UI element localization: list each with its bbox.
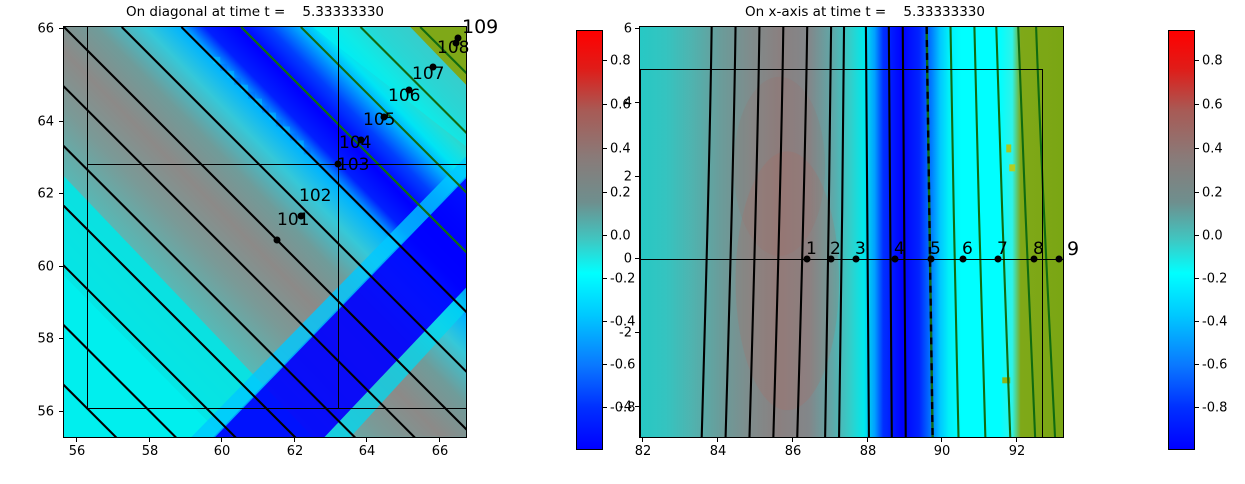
right-colorbar-tick-mark bbox=[1195, 192, 1199, 193]
right-colorbar-tick-label: 0.8 bbox=[1202, 54, 1223, 69]
left-colorbar-tick-mark bbox=[603, 148, 607, 149]
right-xtick-mark bbox=[1016, 438, 1017, 442]
left-ytick-label: 64 bbox=[30, 115, 54, 130]
right-reference-rectangle bbox=[640, 69, 1043, 438]
left-xtick-label: 62 bbox=[287, 444, 304, 459]
left-ytick-label: 58 bbox=[30, 332, 54, 347]
right-colorbar-tick-label: -0.8 bbox=[1202, 401, 1227, 416]
left-colorbar[interactable] bbox=[576, 30, 603, 450]
left-xtick-label: 60 bbox=[214, 444, 231, 459]
left-point-label: 101 bbox=[277, 212, 309, 229]
left-colorbar-tick-mark bbox=[603, 192, 607, 193]
left-colorbar-tick-mark bbox=[603, 235, 607, 236]
right-xtick-mark bbox=[867, 438, 868, 442]
right-xtick-label: 84 bbox=[710, 444, 727, 459]
left-vertical-reference-line bbox=[338, 26, 339, 409]
left-point-label: 108 bbox=[437, 40, 469, 57]
left-xtick-label: 58 bbox=[142, 444, 159, 459]
left-ytick-label: 60 bbox=[30, 260, 54, 275]
right-colorbar[interactable] bbox=[1168, 30, 1195, 450]
left-point-label: 106 bbox=[388, 88, 420, 105]
right-colorbar-group: 0.8 0.6 0.4 0.2 0.0 -0.2 -0.4 -0.6 -0.8 bbox=[1160, 0, 1245, 484]
left-point-label-outside: 109 bbox=[462, 18, 498, 37]
right-ytick-mark bbox=[635, 176, 639, 177]
right-ytick-label: 0 bbox=[610, 252, 632, 267]
right-ytick-label: -4 bbox=[606, 400, 632, 415]
left-xtick-label: 56 bbox=[69, 444, 86, 459]
left-data-point-last[interactable] bbox=[455, 35, 462, 42]
right-colorbar-tick-label: 0.2 bbox=[1202, 186, 1223, 201]
left-xtick-mark bbox=[221, 438, 222, 442]
right-point-label: 6 bbox=[962, 241, 973, 258]
right-ytick-mark bbox=[635, 406, 639, 407]
right-xtick-label: 82 bbox=[635, 444, 652, 459]
right-colorbar-tick-label: 0.0 bbox=[1202, 229, 1223, 244]
left-horizontal-reference-line bbox=[87, 164, 467, 165]
right-colorbar-tick-mark bbox=[1195, 235, 1199, 236]
right-xtick-mark bbox=[717, 438, 718, 442]
left-ytick-label: 66 bbox=[30, 22, 54, 37]
left-point-label: 102 bbox=[299, 188, 331, 205]
right-colorbar-tick-mark bbox=[1195, 278, 1199, 279]
figure-canvas: On diagonal at time t = 5.33333330 bbox=[0, 0, 1245, 484]
right-xtick-mark bbox=[941, 438, 942, 442]
right-colorbar-tick-mark bbox=[1195, 364, 1199, 365]
right-xtick-label: 88 bbox=[860, 444, 877, 459]
left-xtick-mark bbox=[149, 438, 150, 442]
right-colorbar-tick-mark bbox=[1195, 321, 1199, 322]
right-xtick-label: 86 bbox=[785, 444, 802, 459]
left-point-label: 103 bbox=[337, 157, 369, 174]
right-point-label: 1 bbox=[806, 241, 817, 258]
left-xtick-mark bbox=[294, 438, 295, 442]
left-colorbar-gradient bbox=[577, 31, 602, 449]
left-ytick-label: 62 bbox=[30, 187, 54, 202]
left-colorbar-tick-mark bbox=[603, 321, 607, 322]
right-ytick-label: -2 bbox=[606, 326, 632, 341]
left-xtick-mark bbox=[76, 438, 77, 442]
left-ytick-label: 56 bbox=[30, 405, 54, 420]
right-point-label: 5 bbox=[930, 241, 941, 258]
left-ytick-mark bbox=[59, 121, 63, 122]
right-data-point[interactable] bbox=[1056, 256, 1063, 263]
right-colorbar-tick-label: 0.6 bbox=[1202, 98, 1223, 113]
left-plot-title: On diagonal at time t = 5.33333330 bbox=[30, 4, 480, 20]
right-ytick-mark bbox=[635, 258, 639, 259]
right-ytick-label: 4 bbox=[610, 96, 632, 111]
right-plot-title: On x-axis at time t = 5.33333330 bbox=[650, 4, 1080, 20]
left-xtick-mark bbox=[439, 438, 440, 442]
right-ytick-label: 6 bbox=[610, 22, 632, 37]
right-point-label: 8 bbox=[1033, 241, 1044, 258]
right-panel: On x-axis at time t = 5.33333330 bbox=[620, 0, 1140, 484]
right-colorbar-tick-label: -0.2 bbox=[1202, 272, 1227, 287]
right-colorbar-tick-mark bbox=[1195, 60, 1199, 61]
right-ytick-mark bbox=[635, 332, 639, 333]
left-point-label: 107 bbox=[412, 66, 444, 83]
right-colorbar-tick-mark bbox=[1195, 407, 1199, 408]
left-colorbar-tick-mark bbox=[603, 278, 607, 279]
right-point-label: 7 bbox=[997, 241, 1008, 258]
right-point-label: 2 bbox=[830, 241, 841, 258]
left-ytick-mark bbox=[59, 28, 63, 29]
right-xtick-label: 92 bbox=[1009, 444, 1026, 459]
left-xtick-label: 64 bbox=[359, 444, 376, 459]
left-data-point[interactable] bbox=[274, 237, 281, 244]
left-colorbar-tick-mark bbox=[603, 60, 607, 61]
left-colorbar-tick-mark bbox=[603, 364, 607, 365]
left-xtick-label: 66 bbox=[432, 444, 449, 459]
right-point-label-outside: 9 bbox=[1067, 240, 1079, 259]
left-ytick-mark bbox=[59, 338, 63, 339]
right-colorbar-tick-label: -0.6 bbox=[1202, 358, 1227, 373]
right-xtick-label: 90 bbox=[934, 444, 951, 459]
left-ytick-mark bbox=[59, 193, 63, 194]
left-panel: On diagonal at time t = 5.33333330 bbox=[0, 0, 560, 484]
right-colorbar-tick-mark bbox=[1195, 148, 1199, 149]
right-point-label: 3 bbox=[855, 241, 866, 258]
left-ytick-mark bbox=[59, 266, 63, 267]
right-point-label: 4 bbox=[894, 241, 905, 258]
right-colorbar-gradient bbox=[1169, 31, 1194, 449]
right-colorbar-tick-label: 0.4 bbox=[1202, 142, 1223, 157]
left-point-label: 104 bbox=[339, 135, 371, 152]
right-xtick-mark bbox=[642, 438, 643, 442]
right-xtick-mark bbox=[792, 438, 793, 442]
right-colorbar-tick-label: -0.4 bbox=[1202, 315, 1227, 330]
right-ytick-mark bbox=[635, 102, 639, 103]
left-xtick-mark bbox=[366, 438, 367, 442]
left-colorbar-tick-mark bbox=[603, 104, 607, 105]
right-plot-area bbox=[639, 26, 1064, 438]
right-ytick-mark bbox=[635, 28, 639, 29]
right-ytick-label: 2 bbox=[610, 170, 632, 185]
left-ytick-mark bbox=[59, 411, 63, 412]
left-point-label: 105 bbox=[363, 112, 395, 129]
right-colorbar-tick-mark bbox=[1195, 104, 1199, 105]
